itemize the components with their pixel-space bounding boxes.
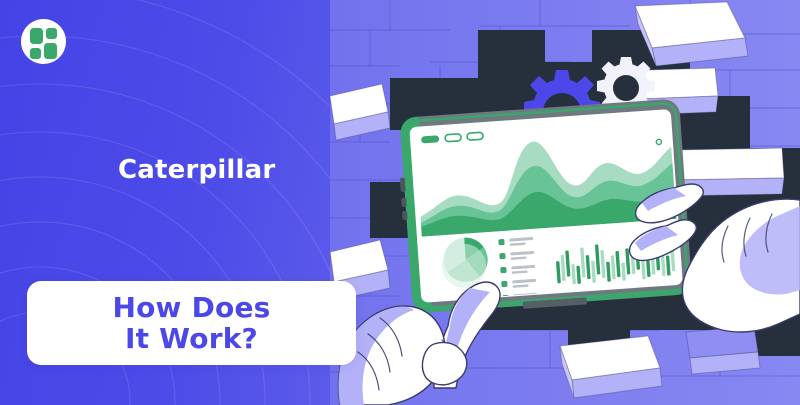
headline-line-1: How Does	[112, 291, 270, 324]
caterpillar-logo[interactable]	[21, 19, 66, 64]
brick-flying-1	[635, 2, 748, 66]
logo-tiles-icon	[21, 19, 66, 64]
hero-illustration	[330, 0, 800, 405]
headline-line-2: It Work?	[112, 323, 270, 354]
headline-card: How Does It Work?	[27, 281, 356, 365]
headline-text: How Does It Work?	[112, 292, 270, 355]
promo-banner: Caterpillar How Does It Work?	[0, 0, 800, 405]
brick-flying-6	[686, 326, 760, 374]
page-title: Caterpillar	[118, 155, 275, 185]
